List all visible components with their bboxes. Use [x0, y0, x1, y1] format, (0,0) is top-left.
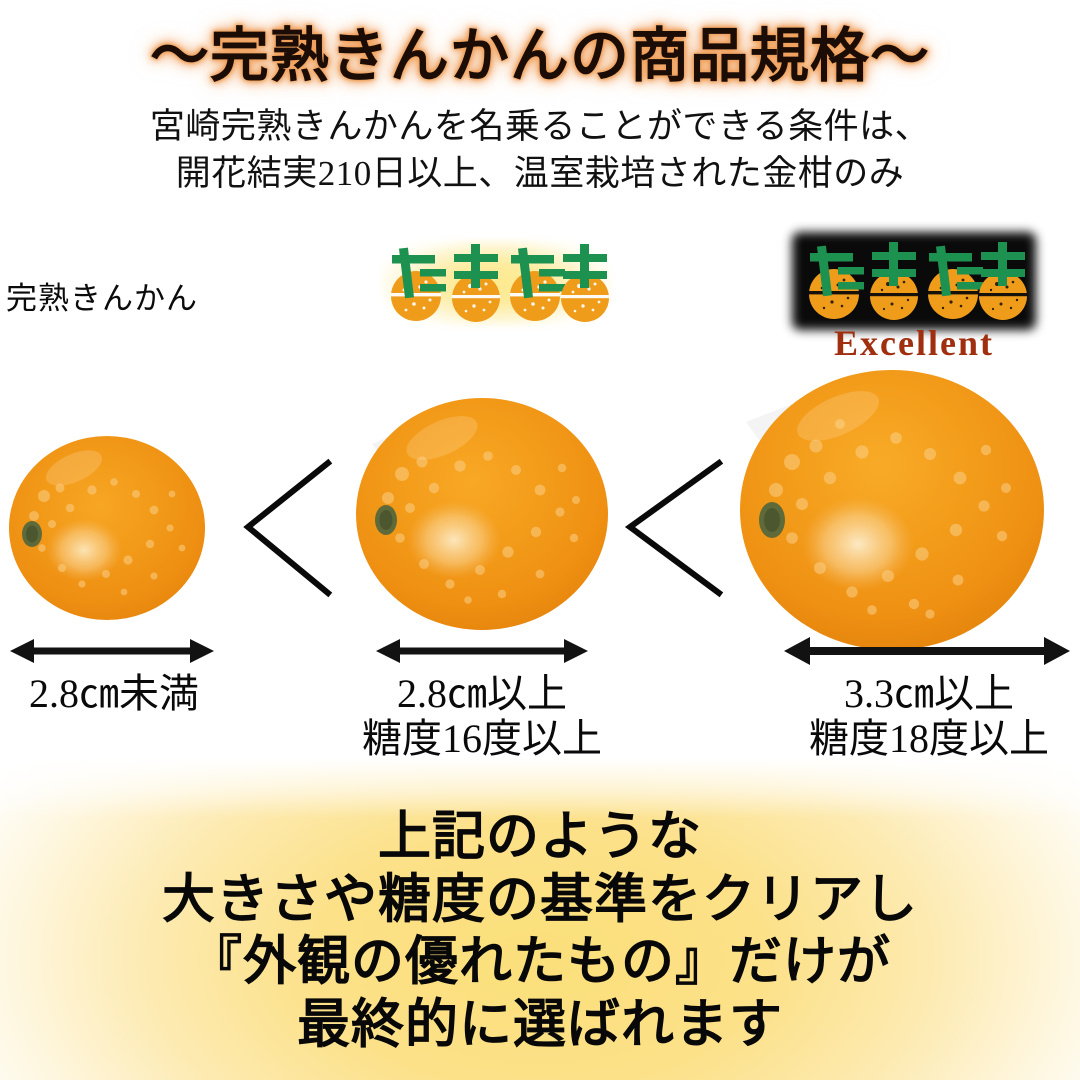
grade-3-size-text: 3.3㎝以上 — [788, 672, 1070, 717]
size-arrow-1 — [8, 634, 216, 668]
footer-line-3: 『外観の優れたもの』だけが — [0, 931, 1080, 994]
subtitle-line-1: 宮崎完熟きんかんを名乗ることができる条件は、 — [0, 104, 1080, 151]
subtitle-block: 宮崎完熟きんかんを名乗ることができる条件は、 開花結実210日以上、温室栽培され… — [0, 104, 1080, 197]
excellent-badge: Excellent — [798, 322, 1030, 364]
grade-3-brix-text: 糖度18度以上 — [788, 717, 1070, 762]
grade-3-spec: 3.3㎝以上 糖度18度以上 — [788, 672, 1070, 762]
grade-2-spec: 2.8㎝以上 糖度16度以上 — [358, 672, 606, 762]
footer-line-4: 最終的に選ばれます — [0, 994, 1080, 1057]
subtitle-line-2: 開花結実210日以上、温室栽培された金柑のみ — [0, 151, 1080, 198]
grade-1-spec: 2.8㎝未満 — [0, 672, 228, 717]
grade-2-size-text: 2.8㎝以上 — [358, 672, 606, 717]
tamatama-logo-artwork-excellent — [798, 238, 1030, 324]
footer-line-1: 上記のような — [0, 806, 1080, 869]
kumquat-medium — [350, 388, 620, 638]
poster-canvas: 〜完熟きんかんの商品規格〜 宮崎完熟きんかんを名乗ることができる条件は、 開花結… — [0, 0, 1080, 1080]
comparator-1-less-than — [240, 455, 340, 600]
grade-3-logo — [798, 238, 1030, 324]
footer-line-2: 大きさや糖度の基準をクリアし — [0, 869, 1080, 932]
grade-1-size-text: 2.8㎝未満 — [0, 672, 228, 717]
size-arrow-2 — [374, 634, 590, 668]
page-title: 〜完熟きんかんの商品規格〜 — [0, 8, 1080, 93]
kumquat-small — [4, 424, 219, 629]
comparator-2-less-than — [622, 455, 732, 600]
kumquat-large — [730, 358, 1060, 648]
footer-message: 上記のような 大きさや糖度の基準をクリアし 『外観の優れたもの』だけが 最終的に… — [0, 806, 1080, 1056]
tamatama-logo-artwork — [380, 240, 612, 326]
size-arrow-3 — [782, 632, 1072, 670]
grade-2-brix-text: 糖度16度以上 — [358, 717, 606, 762]
grade-1-label: 完熟きんかん — [6, 273, 198, 318]
grade-2-logo — [380, 240, 612, 326]
